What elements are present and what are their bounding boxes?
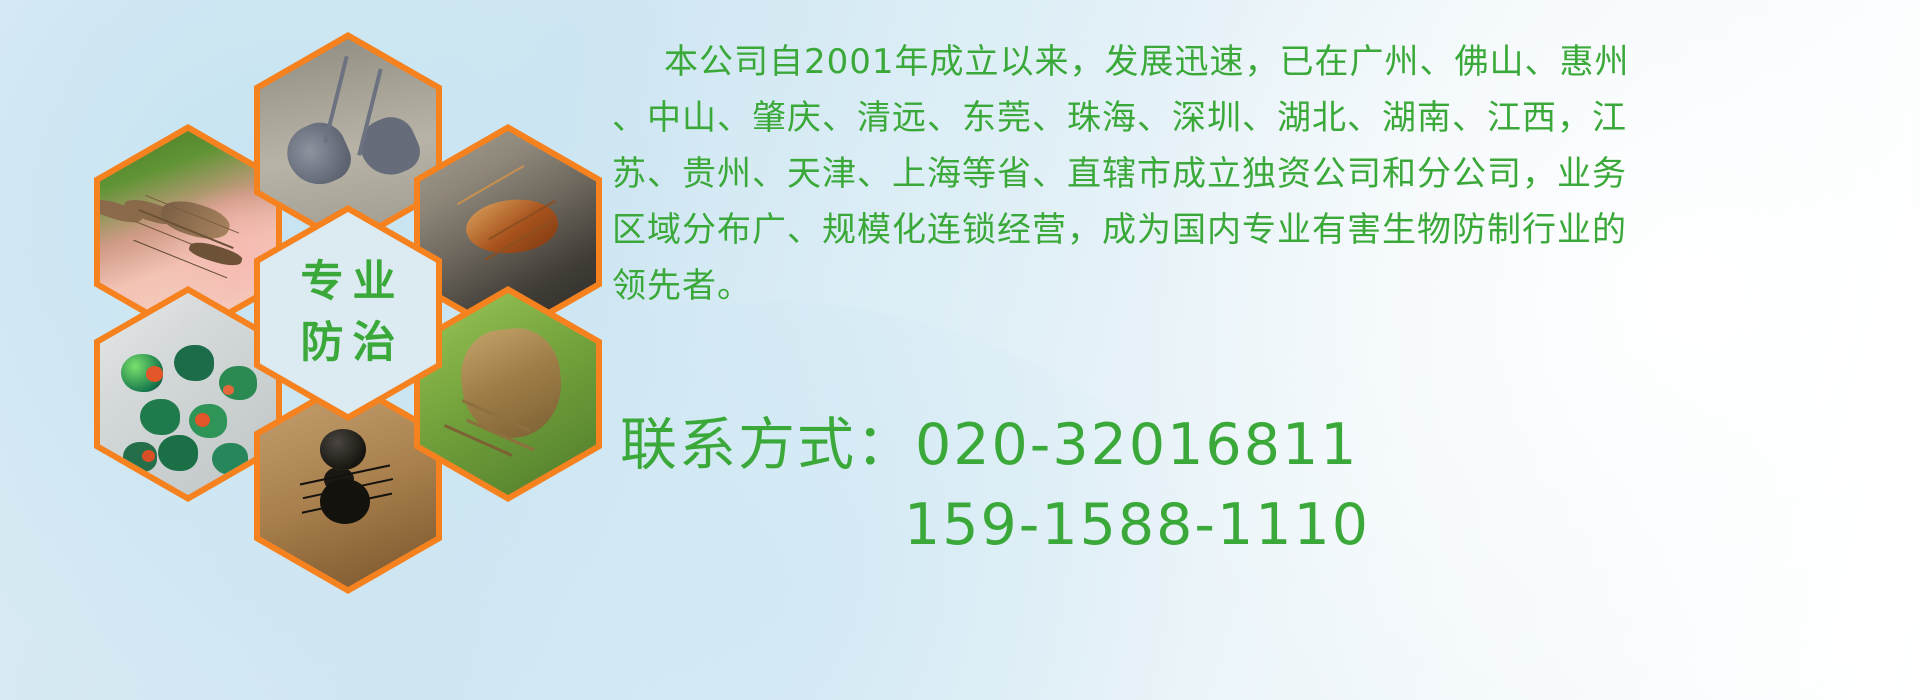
- flies-image: [100, 293, 276, 495]
- hex-photo-flies-inner: [100, 293, 276, 495]
- intro-line-2: 、中山、肇庆、清远、东莞、珠海、深圳、湖北、湖南、江西，江: [612, 90, 1872, 146]
- intro-line-5: 领先者。: [612, 258, 1872, 314]
- hex-photo-stinkbug[interactable]: [414, 286, 602, 502]
- contact-block: 联系方式：020-32016811 159-1588-1110: [620, 405, 1820, 565]
- hex-photo-flies[interactable]: [94, 286, 282, 502]
- intro-line-3: 苏、贵州、天津、上海等省、直辖市成立独资公司和分公司，业务: [612, 146, 1872, 202]
- slogan-line-2: 防治: [292, 313, 405, 374]
- contact-phone-secondary[interactable]: 159-1588-1110: [620, 485, 1820, 565]
- hex-center-slogan-inner: 专业 防治: [260, 212, 436, 414]
- hexagon-photo-cluster: 专业 防治: [88, 8, 588, 568]
- stinkbug-image: [420, 293, 596, 495]
- hex-center-slogan: 专业 防治: [254, 205, 442, 421]
- company-intro-paragraph: 本公司自2001年成立以来，发展迅速，已在广州、佛山、惠州 、中山、肇庆、清远、…: [612, 34, 1872, 314]
- intro-line-4: 区域分布广、规模化连锁经营，成为国内专业有害生物防制行业的: [612, 202, 1872, 258]
- intro-line-1: 本公司自2001年成立以来，发展迅速，已在广州、佛山、惠州: [612, 34, 1872, 90]
- contact-phone-primary[interactable]: 联系方式：020-32016811: [620, 405, 1820, 485]
- hex-photo-stinkbug-inner: [420, 293, 596, 495]
- slogan-line-1: 专业: [292, 252, 405, 313]
